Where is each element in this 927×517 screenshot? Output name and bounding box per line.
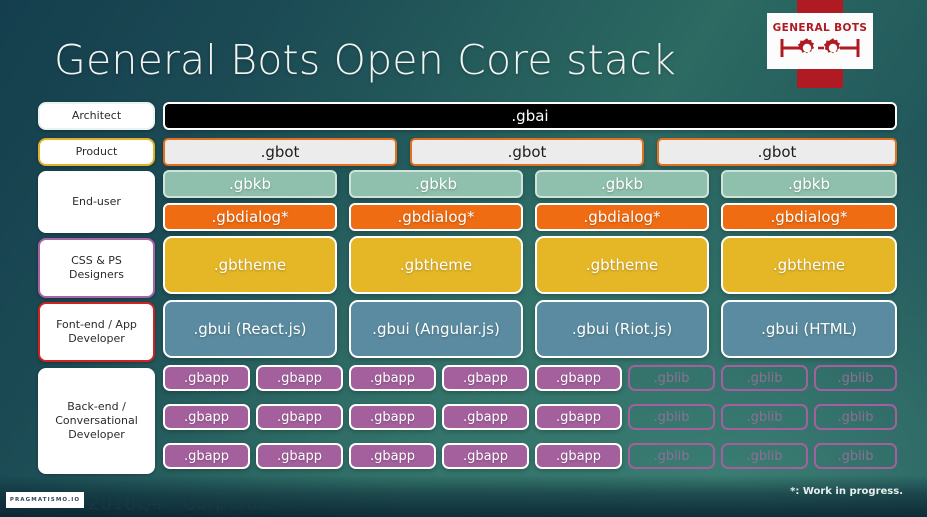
block-gbdialog[interactable]: .gbdialog* <box>163 203 337 231</box>
block-gbkb[interactable]: .gbkb <box>721 170 897 198</box>
block-gbui-angular[interactable]: .gbui (Angular.js) <box>349 300 523 358</box>
block-gbapp[interactable]: .gbapp <box>535 404 622 430</box>
work-in-progress-note: *: Work in progress. <box>790 486 903 497</box>
pragmatismo-badge: PRAGMATISMO.IO <box>6 492 84 508</box>
label-css-ps-designers: CSS & PS Designers <box>38 238 155 298</box>
block-gbapp[interactable]: .gbapp <box>535 365 622 391</box>
logo-wordmark: GENERAL BOTS <box>773 22 868 34</box>
block-gbkb[interactable]: .gbkb <box>535 170 709 198</box>
page-title: General Bots Open Core stack <box>54 36 676 84</box>
block-gbapp[interactable]: .gbapp <box>349 443 436 469</box>
block-gblib[interactable]: .gblib <box>628 443 715 469</box>
block-gblib[interactable]: .gblib <box>721 365 808 391</box>
block-gbapp[interactable]: .gbapp <box>256 443 343 469</box>
label-product: Product <box>38 138 155 166</box>
label-line-2: Developer <box>56 332 137 346</box>
logo-plate: GENERAL BOTS <box>767 13 873 69</box>
label-line-2: Designers <box>69 268 124 282</box>
label-backend-conversational-developer: Back-end / Conversational Developer <box>38 368 155 474</box>
block-gbot[interactable]: .gbot <box>657 138 897 166</box>
label-line-1: Font-end / App <box>56 318 137 332</box>
block-gblib[interactable]: .gblib <box>814 365 897 391</box>
block-gbapp[interactable]: .gbapp <box>256 404 343 430</box>
block-gbot[interactable]: .gbot <box>410 138 644 166</box>
slide-canvas: General Bots Open Core stack GENERAL BOT… <box>0 0 927 517</box>
block-gbapp[interactable]: .gbapp <box>163 443 250 469</box>
general-bots-logo: GENERAL BOTS <box>767 0 873 88</box>
block-gbtheme[interactable]: .gbtheme <box>535 236 709 294</box>
block-gbapp[interactable]: .gbapp <box>163 404 250 430</box>
block-gbui-html[interactable]: .gbui (HTML) <box>721 300 897 358</box>
block-gbapp[interactable]: .gbapp <box>442 443 529 469</box>
block-gbai[interactable]: .gbai <box>163 102 897 130</box>
block-gbkb[interactable]: .gbkb <box>349 170 523 198</box>
block-gbapp[interactable]: .gbapp <box>442 404 529 430</box>
block-gbapp[interactable]: .gbapp <box>256 365 343 391</box>
block-gbtheme[interactable]: .gbtheme <box>163 236 337 294</box>
block-gbdialog[interactable]: .gbdialog* <box>721 203 897 231</box>
slide-footer: PRAGMATISMO.IO 2018Q4 - Corporate *: Wor… <box>0 477 927 517</box>
block-gblib[interactable]: .gblib <box>628 404 715 430</box>
block-gbapp[interactable]: .gbapp <box>442 365 529 391</box>
pragmatismo-badge-label: PRAGMATISMO.IO <box>10 497 80 503</box>
block-gbdialog[interactable]: .gbdialog* <box>535 203 709 231</box>
footer-caption: 2018Q4 - Corporate <box>88 492 277 514</box>
label-end-user: End-user <box>38 171 155 233</box>
block-gbui-react[interactable]: .gbui (React.js) <box>163 300 337 358</box>
block-gblib[interactable]: .gblib <box>814 443 897 469</box>
label-line-1: Back-end / <box>55 400 138 414</box>
label-frontend-app-developer: Font-end / App Developer <box>38 302 155 362</box>
block-gbapp[interactable]: .gbapp <box>349 404 436 430</box>
block-gblib[interactable]: .gblib <box>721 443 808 469</box>
label-architect: Architect <box>38 102 155 130</box>
block-gbui-riot[interactable]: .gbui (Riot.js) <box>535 300 709 358</box>
block-gbapp[interactable]: .gbapp <box>349 365 436 391</box>
block-gbapp[interactable]: .gbapp <box>163 365 250 391</box>
block-gbot[interactable]: .gbot <box>163 138 397 166</box>
block-gbtheme[interactable]: .gbtheme <box>349 236 523 294</box>
label-line-3: Developer <box>55 428 138 442</box>
two-gears-icon <box>778 35 862 61</box>
label-line-2: Conversational <box>55 414 138 428</box>
block-gbkb[interactable]: .gbkb <box>163 170 337 198</box>
block-gblib[interactable]: .gblib <box>721 404 808 430</box>
block-gbtheme[interactable]: .gbtheme <box>721 236 897 294</box>
label-line-1: CSS & PS <box>69 254 124 268</box>
block-gblib[interactable]: .gblib <box>814 404 897 430</box>
block-gbapp[interactable]: .gbapp <box>535 443 622 469</box>
block-gblib[interactable]: .gblib <box>628 365 715 391</box>
block-gbdialog[interactable]: .gbdialog* <box>349 203 523 231</box>
